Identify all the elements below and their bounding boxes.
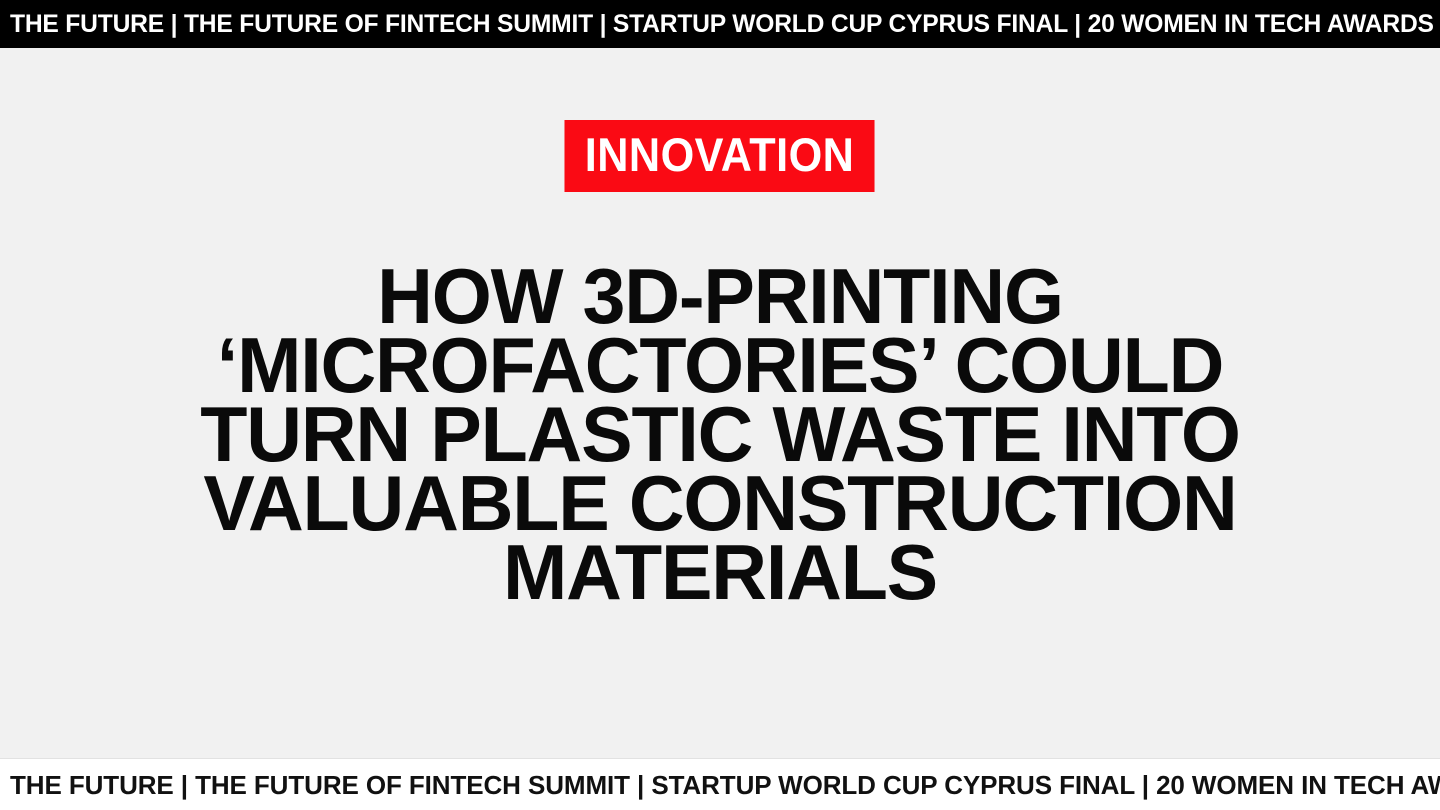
top-ticker-text[interactable]: THE FUTURE | THE FUTURE OF FINTECH SUMMI… <box>10 12 1434 37</box>
bottom-ticker-bar[interactable]: THE FUTURE | THE FUTURE OF FINTECH SUMMI… <box>0 758 1440 810</box>
category-badge-innovation[interactable]: INNOVATION <box>565 120 875 192</box>
top-ticker-bar[interactable]: THE FUTURE | THE FUTURE OF FINTECH SUMMI… <box>0 0 1440 48</box>
category-badge-container: INNOVATION <box>0 120 1440 192</box>
article-hero-page: THE FUTURE | THE FUTURE OF FINTECH SUMMI… <box>0 0 1440 810</box>
article-main: INNOVATION HOW 3D-PRINTING ‘MICROFACTORI… <box>0 48 1440 758</box>
bottom-ticker-text[interactable]: THE FUTURE | THE FUTURE OF FINTECH SUMMI… <box>10 772 1440 798</box>
article-headline: HOW 3D-PRINTING ‘MICROFACTORIES’ COULD T… <box>95 262 1345 607</box>
headline-line-5: MATERIALS <box>101 538 1339 607</box>
